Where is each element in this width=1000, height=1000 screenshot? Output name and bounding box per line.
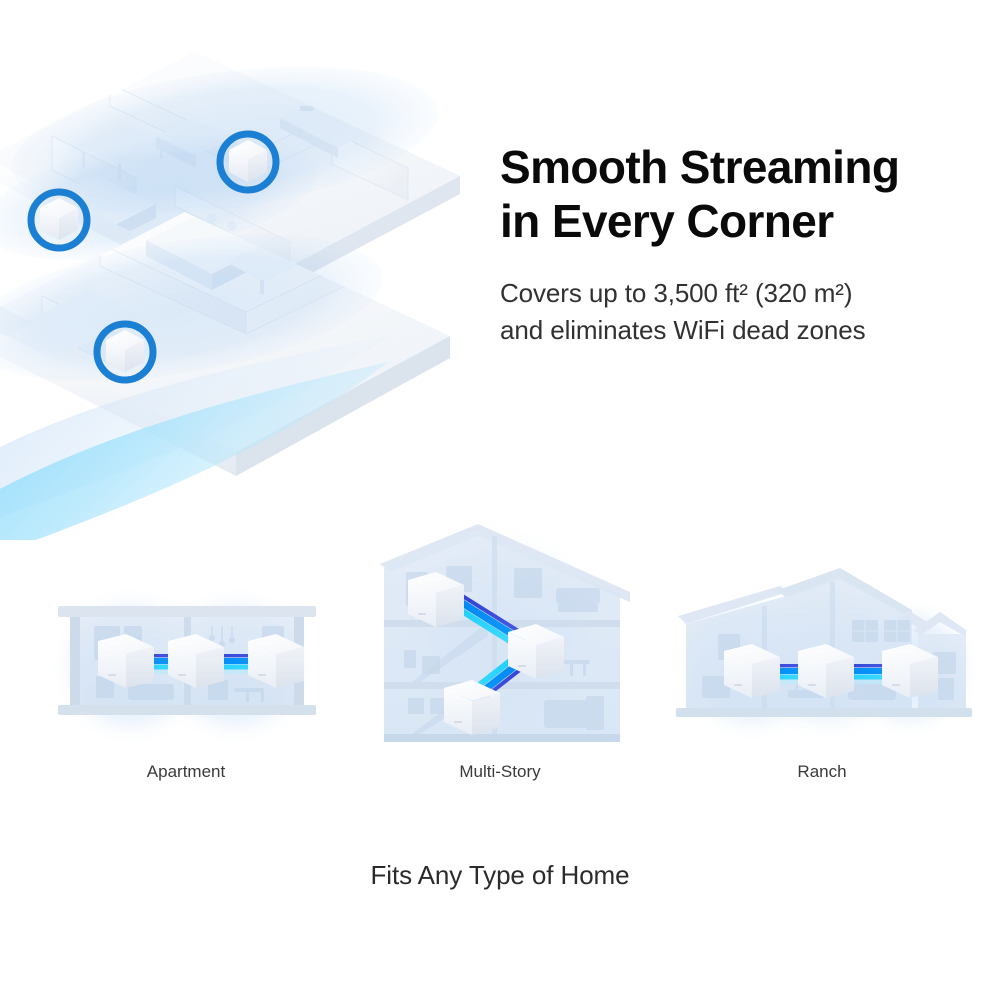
home-type-label: Multi-Story	[350, 762, 650, 782]
ranch-illustration	[662, 548, 982, 758]
product-feature-page: Smooth Streaming in Every Corner Covers …	[0, 0, 1000, 1000]
home-type-apartment[interactable]: Apartment	[36, 548, 336, 782]
page-title: Smooth Streaming in Every Corner	[500, 140, 970, 249]
hero-subtitle: Covers up to 3,500 ft² (320 m²) and elim…	[500, 275, 970, 350]
hero-copy: Smooth Streaming in Every Corner Covers …	[500, 140, 970, 350]
home-types-section: Apartment	[0, 548, 1000, 838]
section-caption: Fits Any Type of Home	[0, 860, 1000, 891]
apartment-illustration	[36, 548, 336, 758]
floorplan-illustration	[0, 40, 480, 540]
floorplan-svg	[0, 40, 480, 540]
home-type-label: Ranch	[662, 762, 982, 782]
home-type-label: Apartment	[36, 762, 336, 782]
hero-section: Smooth Streaming in Every Corner Covers …	[0, 0, 1000, 540]
home-type-multi-story[interactable]: Multi-Story	[350, 510, 650, 782]
home-type-ranch[interactable]: Ranch	[662, 548, 982, 782]
multi-story-illustration	[350, 510, 650, 758]
